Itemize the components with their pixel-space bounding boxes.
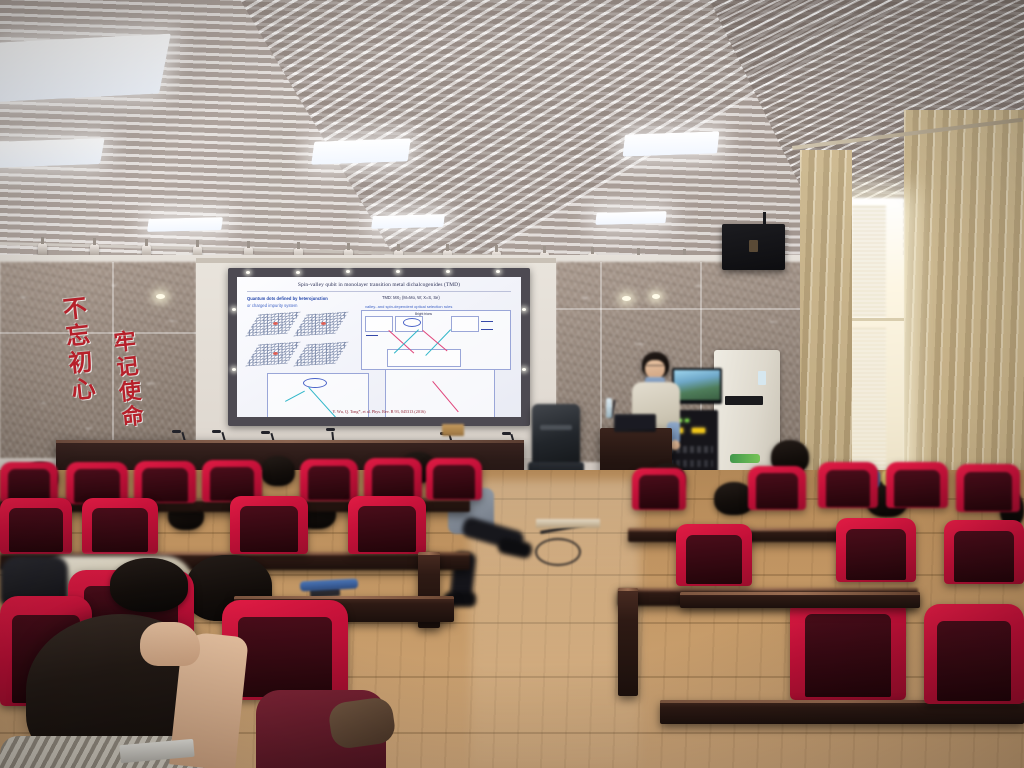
audience-seat[interactable] bbox=[886, 462, 948, 508]
audience-seat[interactable] bbox=[300, 459, 358, 501]
projection-screen: Spin-valley qubit in monolayer transitio… bbox=[228, 268, 530, 426]
auditorium-photo: 不忘初心 牢记使命 Spin-valley qubit in monolayer… bbox=[0, 0, 1024, 768]
ceiling-panel-light bbox=[623, 131, 720, 156]
laptop-screen bbox=[616, 416, 654, 429]
ground-state-box bbox=[387, 349, 461, 367]
audience-seat[interactable] bbox=[82, 498, 158, 554]
slide-subtitle-left-2: or charged impurity system bbox=[247, 303, 297, 308]
impurity-site bbox=[273, 352, 278, 355]
audience-seat[interactable] bbox=[836, 518, 916, 582]
state-ellipse bbox=[403, 318, 421, 327]
trion-level-box bbox=[451, 316, 479, 332]
state-ellipse bbox=[303, 378, 327, 388]
table-object-box bbox=[442, 424, 464, 436]
audience-head bbox=[261, 456, 295, 486]
stage-microphone-head bbox=[172, 430, 181, 433]
audience-seat[interactable] bbox=[134, 461, 196, 503]
ceiling-panel-light bbox=[595, 211, 666, 225]
presenter-laptop bbox=[614, 414, 656, 432]
chair-back bbox=[532, 404, 580, 466]
audience-seat[interactable] bbox=[426, 458, 482, 500]
audience-seat[interactable] bbox=[230, 496, 308, 554]
ceiling-panel-light bbox=[0, 138, 105, 168]
audience-seat[interactable] bbox=[364, 458, 422, 500]
energy-level bbox=[366, 335, 378, 336]
window-mullion bbox=[846, 318, 904, 321]
marble-seam bbox=[556, 308, 802, 310]
slide-title-rule bbox=[247, 291, 511, 292]
audience-seat[interactable] bbox=[348, 496, 426, 554]
rack-led-display bbox=[692, 428, 705, 433]
marble-wall-left bbox=[0, 262, 196, 458]
speaker-driver-icon bbox=[749, 240, 758, 252]
ceiling-panel-light bbox=[371, 214, 445, 229]
audience-seat[interactable] bbox=[944, 520, 1024, 584]
window-blind bbox=[852, 206, 886, 318]
stage-microphone-head bbox=[212, 430, 221, 433]
marble-seam bbox=[0, 332, 196, 334]
impurity-site bbox=[273, 322, 278, 325]
floor-cable bbox=[535, 538, 581, 566]
slide-subtitle-right-2: valley- and spin-dependent optical selec… bbox=[365, 304, 452, 309]
audience-seat[interactable] bbox=[818, 462, 878, 508]
wall-speaker-icon bbox=[722, 224, 785, 270]
energy-level bbox=[481, 321, 493, 322]
presentation-slide: Spin-valley qubit in monolayer transitio… bbox=[237, 277, 521, 417]
audience-desk bbox=[680, 592, 920, 608]
wall-downlight bbox=[652, 294, 660, 299]
chair-headrest-seam bbox=[540, 425, 572, 430]
audience-seat[interactable] bbox=[790, 596, 906, 700]
audience-seat[interactable] bbox=[676, 524, 752, 586]
audience-head bbox=[110, 558, 188, 612]
stage-microphone-head bbox=[326, 428, 335, 431]
stage-microphone-head bbox=[502, 432, 511, 435]
audience-seat[interactable] bbox=[748, 466, 806, 510]
audience-seat[interactable] bbox=[924, 604, 1024, 704]
floor-step-edge bbox=[536, 519, 600, 528]
ceiling-panel-light bbox=[0, 34, 171, 103]
slide-subtitle-left: Quantum dots defined by heterojunction bbox=[247, 296, 328, 301]
slide-title: Spin-valley qubit in monolayer transitio… bbox=[237, 282, 521, 288]
presenter-glasses-icon bbox=[646, 365, 664, 369]
audience-seat[interactable] bbox=[632, 468, 686, 510]
wall-trim bbox=[196, 258, 556, 263]
ac-brand-badge bbox=[758, 371, 766, 385]
audience-desk-side bbox=[618, 588, 638, 696]
energy-level bbox=[481, 329, 493, 330]
impurity-site bbox=[321, 322, 326, 325]
slide-subtitle-right: TMD: MX₂ (M=Mo, W; X=S, Se) bbox=[382, 295, 440, 300]
audience-seat[interactable] bbox=[0, 462, 58, 502]
foreground-audience-hand bbox=[140, 622, 200, 666]
ceiling-panel-light bbox=[147, 217, 223, 232]
wall-downlight bbox=[622, 296, 631, 301]
slide-citation: Y. Wu, Q. Tong*, et al. Phys. Rev. B 93,… bbox=[237, 409, 521, 414]
ceiling-panel-light bbox=[311, 138, 411, 164]
wall-downlight bbox=[156, 294, 165, 299]
ac-display-panel bbox=[725, 396, 763, 405]
ac-logo-icon bbox=[730, 454, 760, 463]
audience-seat[interactable] bbox=[956, 464, 1020, 512]
water-bottle bbox=[606, 398, 612, 418]
stage-microphone-head bbox=[261, 431, 270, 434]
audience-seat[interactable] bbox=[0, 498, 72, 554]
